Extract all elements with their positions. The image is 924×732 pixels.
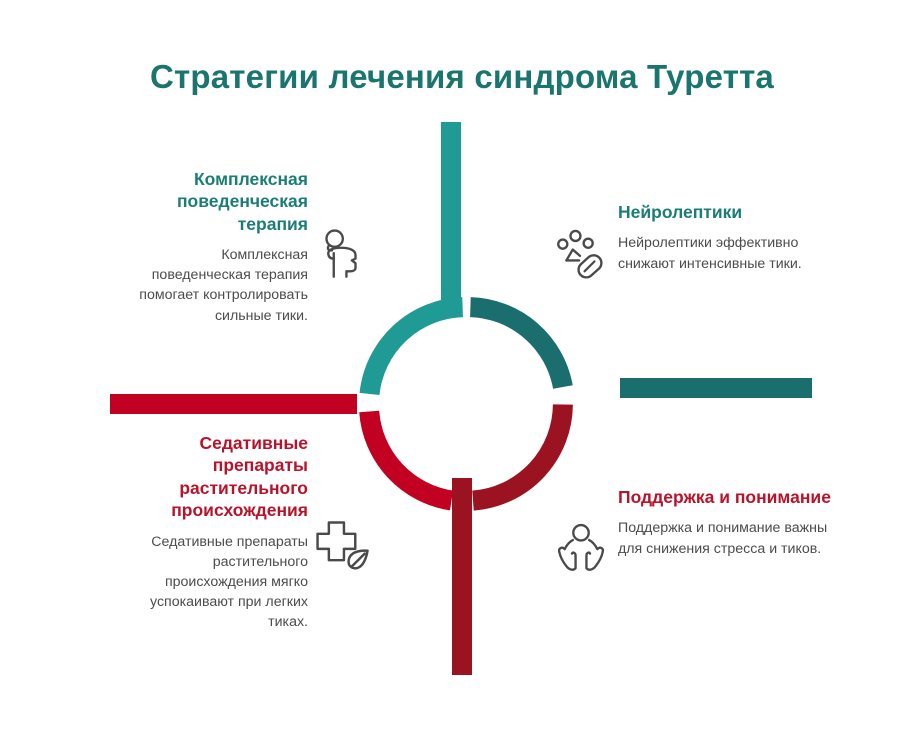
ring-arc-top-right xyxy=(470,307,563,387)
supporting-hands-icon xyxy=(552,521,610,579)
quadrant-top-left-heading: Комплексная поведенческая терапия xyxy=(120,168,308,235)
pills-icon xyxy=(551,226,609,284)
quadrant-bottom-right-heading: Поддержка и понимание xyxy=(618,486,838,508)
quadrant-bottom-left-heading: Седативные препараты растительного проис… xyxy=(112,432,308,522)
quadrant-top-right-heading: Нейролептики xyxy=(618,201,818,223)
quadrant-bottom-right-body: Поддержка и понимание важны для снижения… xyxy=(618,518,838,558)
ring-arc-bottom-right xyxy=(473,405,563,501)
quadrant-bottom-left-body: Седативные препараты растительного проис… xyxy=(112,532,308,633)
connector-right xyxy=(620,378,812,398)
connector-left xyxy=(110,394,357,414)
quadrant-top-right: Нейролептики Нейролептики эффективно сни… xyxy=(618,201,818,274)
quadrant-bottom-right: Поддержка и понимание Поддержка и понима… xyxy=(618,486,838,559)
quadrant-top-left: Комплексная поведенческая терапия Компле… xyxy=(120,168,308,326)
quadrant-top-left-body: Комплексная поведенческая терапия помога… xyxy=(120,245,308,326)
quadrant-top-right-body: Нейролептики эффективно снижают интенсив… xyxy=(618,233,818,273)
quadrant-bottom-left: Седативные препараты растительного проис… xyxy=(112,432,308,632)
medical-cross-leaf-icon xyxy=(310,516,376,578)
connector-bottom xyxy=(452,478,472,675)
connector-top xyxy=(441,122,461,302)
ring-arc-top-left xyxy=(370,307,463,394)
infographic-canvas: Стратегии лечения синдрома Туретта Компл… xyxy=(0,0,924,732)
person-thought-icon xyxy=(312,226,370,284)
ring-arc-bottom-left xyxy=(369,412,451,501)
